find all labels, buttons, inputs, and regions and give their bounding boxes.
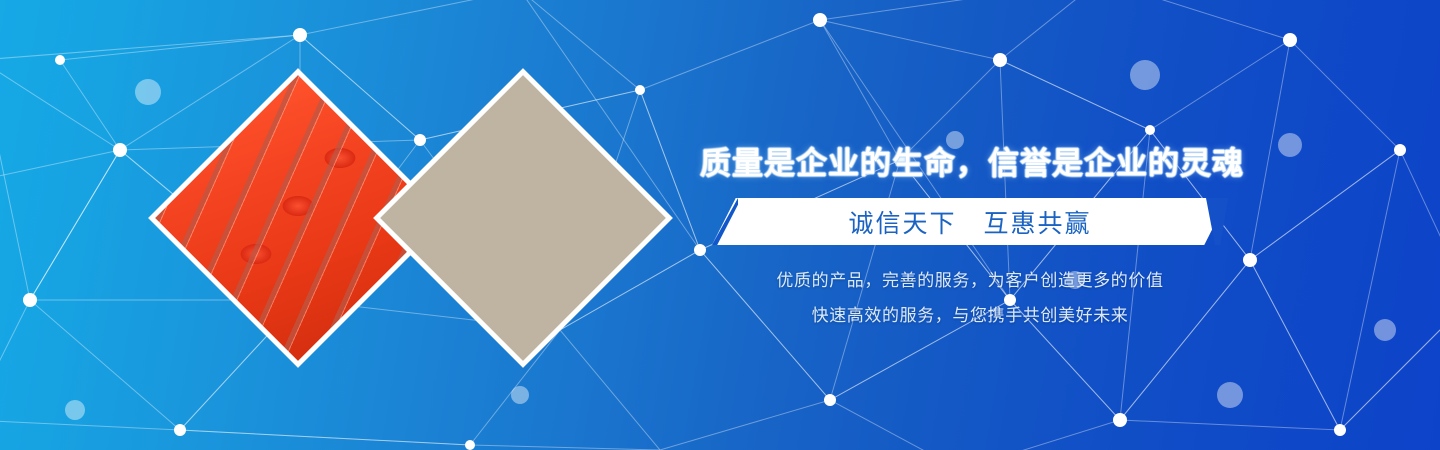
product-photo-group — [0, 0, 700, 450]
banner-subtitle-line-1: 优质的产品，完善的服务，为客户创造更多的价值 — [700, 266, 1240, 291]
banner-copy: 质量是企业的生命，信誉是企业的灵魂 诚信天下 互惠共赢 优质的产品，完善的服务，… — [700, 0, 1240, 450]
banner-headline: 质量是企业的生命，信誉是企业的灵魂 — [700, 138, 1240, 183]
slogan-bar: 诚信天下 互惠共赢 — [712, 198, 1228, 245]
photo-clip-2 — [380, 75, 666, 361]
photo-red-shafts-on-pallets — [380, 75, 666, 361]
banner-subtitle-line-2: 快速高效的服务，与您携手共创美好未来 — [700, 301, 1240, 326]
product-photo-diamond-2[interactable] — [373, 68, 673, 368]
promo-banner: 质量是企业的生命，信誉是企业的灵魂 诚信天下 互惠共赢 优质的产品，完善的服务，… — [0, 0, 1440, 450]
slogan-text: 诚信天下 互惠共赢 — [712, 198, 1228, 245]
